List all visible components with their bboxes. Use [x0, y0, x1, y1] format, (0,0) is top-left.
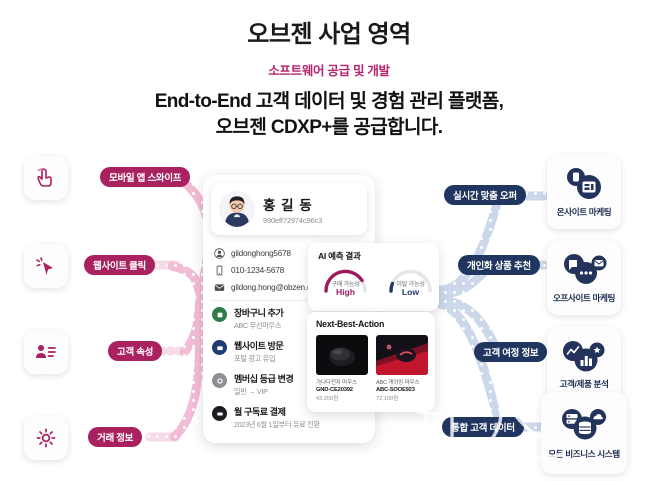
product-code: GND-CE20392	[316, 387, 368, 393]
chat-mail-icon	[559, 253, 609, 287]
payment-icon	[212, 406, 227, 421]
output-card-caption: 온사이트 마케팅	[557, 206, 612, 218]
output-card-caption: 고객/제품 분석	[559, 378, 608, 390]
avatar	[219, 191, 255, 227]
output-card-offsite-marketing[interactable]: 오프사이트 마케팅	[547, 241, 621, 315]
mail-icon	[214, 282, 225, 293]
output-pill-customer-journey[interactable]: 고객 여정 정보	[474, 342, 547, 362]
swipe-hand-icon	[34, 166, 58, 190]
output-card-caption: 오프사이트 마케팅	[553, 292, 615, 304]
product-name: ABC 게이밍 마우스	[376, 378, 428, 386]
mouse-photo	[316, 335, 368, 375]
website-icon	[212, 340, 227, 355]
output-pill-personalized-recommendation[interactable]: 개인화 상품 추천	[458, 255, 540, 275]
gauge-value: High	[318, 287, 373, 297]
output-pill-realtime-offer[interactable]: 실시간 맞춤 오퍼	[444, 185, 526, 205]
input-tile-website-click[interactable]	[24, 244, 68, 288]
customer-identity-box: 홍 길 동 990eff72974c96c3	[211, 183, 367, 235]
contact-value: gildonghong5678	[231, 249, 291, 258]
input-tile-transaction-info[interactable]	[24, 416, 68, 460]
activity-detail: 일반 → VIP	[234, 387, 293, 397]
activity-title: 웹사이트 방문	[234, 339, 283, 352]
product-name: 가나다전자 마우스	[316, 378, 368, 386]
gear-icon	[34, 426, 58, 450]
watermark-news1	[412, 390, 642, 480]
input-tile-mobile-swipe[interactable]	[24, 156, 68, 200]
input-pill-transaction-info[interactable]: 거래 정보	[88, 427, 142, 447]
gauge-churn-likelihood: 이탈 가능성 Low	[383, 263, 438, 303]
customer-attributes-icon	[34, 340, 58, 364]
ai-prediction-card: AI 예측 결과 구매 가능성 High 이탈 가능성 Low	[308, 243, 439, 311]
contact-value: 010-1234-5678	[231, 266, 284, 275]
membership-icon	[212, 373, 227, 388]
cart-icon	[212, 307, 227, 322]
infographic-canvas: 오브젠 사업 영역 소프트웨어 공급 및 개발 End-to-End 고객 데이…	[0, 0, 658, 481]
activity-title: 장바구니 추가	[234, 306, 283, 319]
customer-id-hash: 990eff72974c96c3	[263, 216, 322, 225]
output-card-onsite-marketing[interactable]: 온사이트 마케팅	[547, 155, 621, 229]
user-icon	[214, 248, 225, 259]
product-item[interactable]: 가나다전자 마우스 GND-CE20392 43,200원	[316, 335, 368, 402]
nba-card-title: Next-Best-Action	[316, 319, 435, 329]
activity-detail: 2023년 6월 1일부터 유료 전환	[234, 420, 320, 430]
gaming-mouse-photo	[376, 335, 428, 375]
ai-card-title: AI 예측 결과	[318, 250, 439, 262]
product-price: 43,200원	[316, 394, 368, 402]
click-cursor-icon	[34, 254, 58, 278]
customer-name: 홍 길 동	[263, 194, 322, 214]
phone-icon	[214, 265, 225, 276]
input-pill-mobile-swipe[interactable]: 모바일 앱 스와이프	[100, 167, 190, 187]
activity-detail: ABC 무선마우스	[234, 321, 283, 331]
contact-value: gildong.hong@obzen.co	[231, 283, 315, 292]
mobile-display-icon	[561, 167, 607, 201]
input-pill-customer-attributes[interactable]: 고객 속성	[108, 341, 162, 361]
activity-title: 멤버십 등급 변경	[234, 372, 293, 385]
gauge-purchase-likelihood: 구매 가능성 High	[318, 263, 373, 303]
gauge-value: Low	[383, 287, 438, 297]
input-tile-customer-attributes[interactable]	[24, 330, 68, 374]
analytics-chart-icon	[559, 339, 609, 373]
activity-detail: 포털 광고 유입	[234, 354, 283, 364]
input-pill-website-click[interactable]: 웹사이트 클릭	[84, 255, 155, 275]
